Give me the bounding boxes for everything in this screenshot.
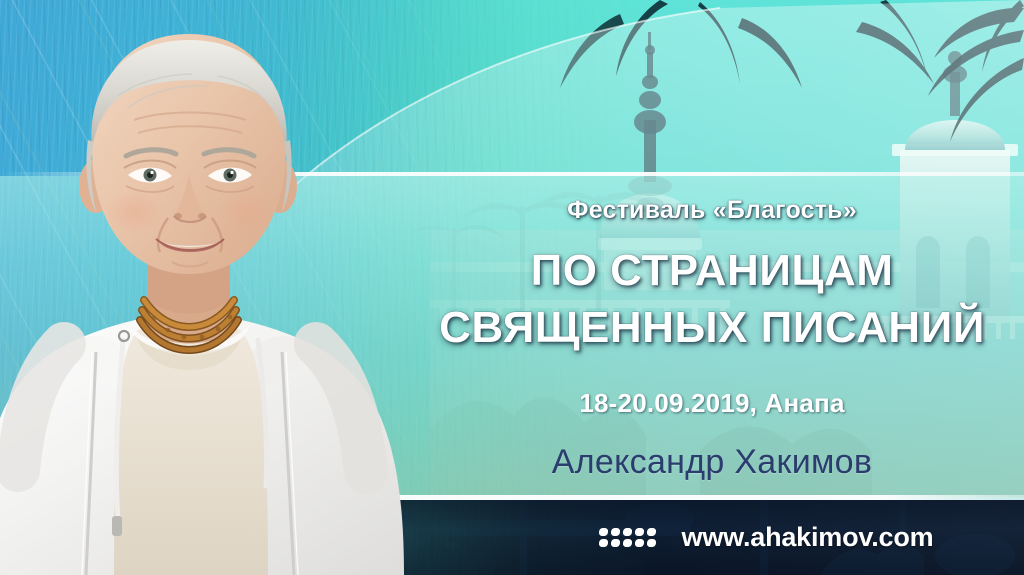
festival-label: Фестиваль «Благость» bbox=[400, 196, 1024, 225]
title-line-2: СВЯЩЕННЫХ ПИСАНИЙ bbox=[400, 303, 1024, 353]
poster-text-block: Фестиваль «Благость» ПО СТРАНИЦАМ СВЯЩЕН… bbox=[400, 0, 1024, 575]
date-and-place: 18-20.09.2019, Анапа bbox=[400, 388, 1024, 419]
speaker-portrait bbox=[0, 0, 438, 575]
event-poster: Фестиваль «Благость» ПО СТРАНИЦАМ СВЯЩЕН… bbox=[0, 0, 1024, 575]
speaker-name: Александр Хакимов bbox=[400, 443, 1024, 482]
dot-grid-logo-icon bbox=[599, 528, 656, 547]
poster-footer: www.ahakimov.com bbox=[400, 500, 1024, 575]
website-url[interactable]: www.ahakimov.com bbox=[682, 522, 934, 553]
title-line-1: ПО СТРАНИЦАМ bbox=[400, 246, 1024, 296]
